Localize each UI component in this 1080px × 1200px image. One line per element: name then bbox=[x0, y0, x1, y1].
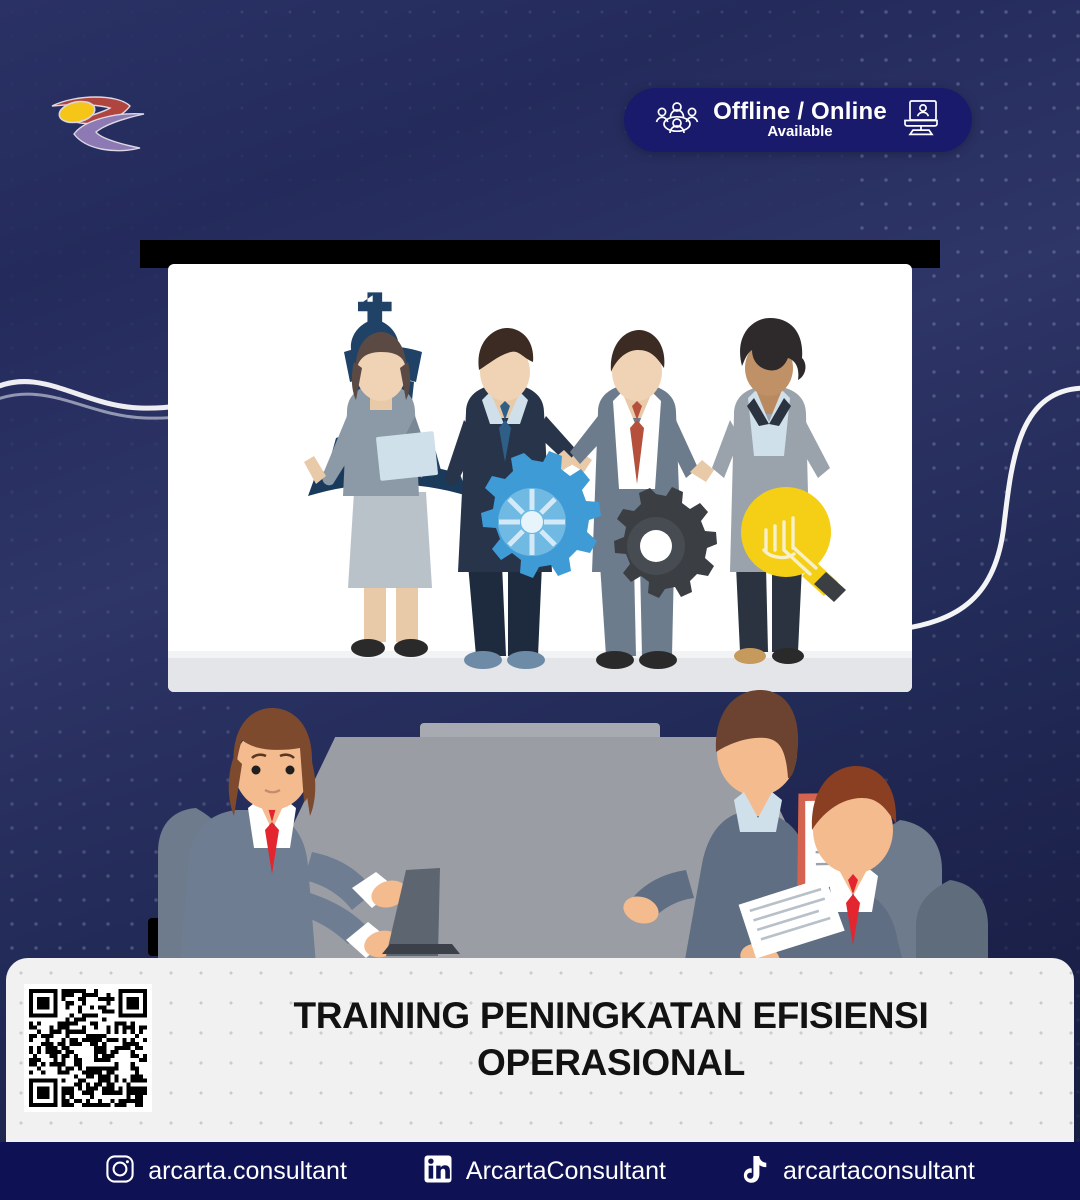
social-tiktok[interactable]: arcartaconsultant bbox=[742, 1154, 975, 1189]
figure-woman-with-clipboard bbox=[304, 332, 438, 657]
arcarta-logo bbox=[44, 72, 154, 162]
team-illustration bbox=[168, 264, 912, 692]
badge-line-2: Available bbox=[767, 123, 832, 140]
social-footer: arcarta.consultant ArcartaConsultant arc… bbox=[0, 1142, 1080, 1200]
tiktok-icon bbox=[742, 1154, 770, 1189]
tiktok-handle: arcartaconsultant bbox=[783, 1157, 975, 1186]
video-conference-monitor-icon bbox=[901, 99, 941, 142]
presentation-monitor bbox=[140, 240, 940, 718]
meeting-group-icon bbox=[655, 100, 699, 141]
title-line-2: OPERASIONAL bbox=[477, 1042, 745, 1083]
linkedin-icon bbox=[423, 1154, 453, 1189]
monitor-screen bbox=[168, 264, 912, 692]
badge-line-1: Offline / Online bbox=[713, 98, 887, 125]
seated-woman-with-laptop bbox=[180, 708, 410, 965]
title-card: TRAINING PENINGKATAN EFISIENSI OPERASION… bbox=[6, 958, 1074, 1142]
poster-root: Offline / Online Available bbox=[0, 0, 1080, 1200]
meeting-room-scene bbox=[0, 690, 1080, 965]
page-title: TRAINING PENINGKATAN EFISIENSI OPERASION… bbox=[181, 992, 1041, 1087]
linkedin-handle: ArcartaConsultant bbox=[466, 1157, 666, 1186]
social-linkedin[interactable]: ArcartaConsultant bbox=[423, 1154, 666, 1189]
social-instagram[interactable]: arcarta.consultant bbox=[105, 1154, 347, 1189]
instagram-icon bbox=[105, 1154, 135, 1189]
title-line-1: TRAINING PENINGKATAN EFISIENSI bbox=[293, 995, 928, 1036]
availability-badge[interactable]: Offline / Online Available bbox=[624, 88, 972, 152]
instagram-handle: arcarta.consultant bbox=[148, 1157, 347, 1186]
qr-code[interactable] bbox=[24, 984, 152, 1112]
